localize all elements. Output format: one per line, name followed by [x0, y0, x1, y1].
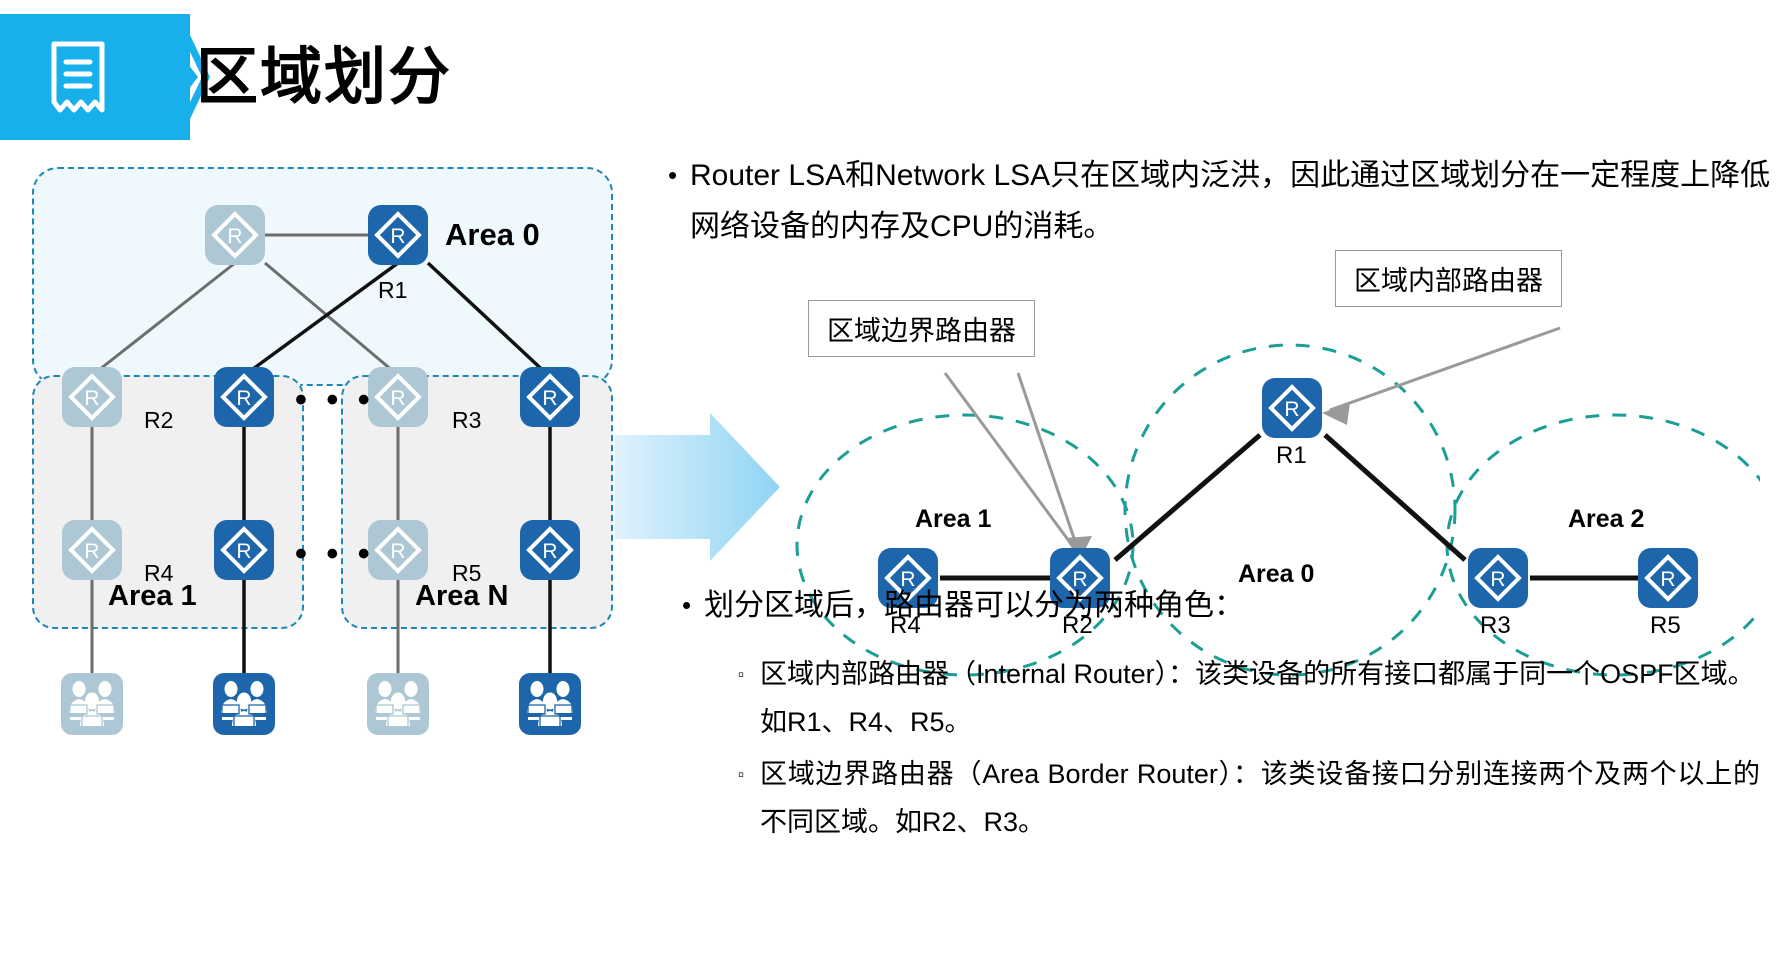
left-topology-diagram: R R Area 0 R1 R R R2 R R R3 • • •	[20, 155, 630, 855]
abr-callout: 区域边界路由器	[808, 300, 1035, 357]
area0-region-box	[32, 167, 613, 386]
right-label-r1: R1	[1276, 442, 1307, 470]
router-icon-r1[interactable]: R	[368, 205, 428, 265]
router-icon-r2[interactable]: R	[214, 367, 274, 427]
router-icon-r2-light[interactable]: R	[62, 367, 122, 427]
svg-text:R: R	[227, 225, 242, 248]
bullet-text: Router LSA和Network LSA只在区域内泛洪，因此通过区域划分在一…	[690, 150, 1780, 252]
users-icon-1[interactable]	[61, 673, 123, 735]
bullet-marker: •	[668, 150, 690, 200]
label-r3: R3	[452, 407, 481, 434]
router-icon-r5-light[interactable]: R	[368, 520, 428, 580]
router-icon-r3[interactable]: R	[520, 367, 580, 427]
sub-bullet-item-2: ▫ 区域边界路由器（Area Border Router）：该类设备接口分别连接…	[738, 750, 1788, 846]
label-r2: R2	[144, 407, 173, 434]
router-icon-r4[interactable]: R	[214, 520, 274, 580]
svg-text:R: R	[84, 387, 99, 410]
users-icon-2[interactable]	[213, 673, 275, 735]
router-icon-r3-light[interactable]: R	[368, 367, 428, 427]
router-icon-r4-light[interactable]: R	[62, 520, 122, 580]
right-router-r1[interactable]: R	[1262, 378, 1322, 438]
svg-text:R: R	[542, 540, 557, 563]
svg-text:R: R	[542, 387, 557, 410]
sub-bullet-marker: ▫	[738, 750, 760, 800]
router-icon-r5[interactable]: R	[520, 520, 580, 580]
internal-router-callout: 区域内部路由器	[1335, 250, 1562, 307]
svg-text:R: R	[390, 540, 405, 563]
bullet-text: 划分区域后，路由器可以分为两种角色：	[704, 580, 1764, 631]
bullet-marker: •	[682, 580, 704, 630]
sub-bullet-item-1: ▫ 区域内部路由器（Internal Router）：该类设备的所有接口都属于同…	[738, 650, 1788, 746]
right-content-pane: • Router LSA和Network LSA只在区域内泛洪，因此通过区域划分…	[660, 150, 1789, 970]
svg-text:R: R	[236, 540, 251, 563]
document-bookmark-icon	[46, 40, 110, 114]
slide-header: 区域划分	[0, 0, 1789, 150]
bullet-item-2: • 划分区域后，路由器可以分为两种角色：	[682, 580, 1782, 631]
svg-text:R: R	[84, 540, 99, 563]
slide-root: 区域划分 R	[0, 0, 1789, 970]
sub-bullet-text: 区域边界路由器（Area Border Router）：该类设备接口分别连接两个…	[760, 750, 1760, 846]
router-icon-top-light[interactable]: R	[205, 205, 265, 265]
label-r1: R1	[378, 277, 407, 304]
svg-text:R: R	[236, 387, 251, 410]
area1-label: Area 1	[108, 580, 197, 613]
ellipsis-bottom: • • •	[295, 547, 375, 561]
users-icon-4[interactable]	[519, 673, 581, 735]
svg-text:R: R	[390, 387, 405, 410]
ellipsis-top: • • •	[295, 393, 375, 407]
sub-bullet-marker: ▫	[738, 650, 760, 700]
right-area2-label: Area 2	[1568, 505, 1644, 534]
right-area1-label: Area 1	[915, 505, 991, 534]
svg-text:R: R	[390, 225, 405, 248]
users-icon-3[interactable]	[367, 673, 429, 735]
arean-label: Area N	[415, 580, 509, 613]
sub-bullet-text: 区域内部路由器（Internal Router）：该类设备的所有接口都属于同一个…	[760, 650, 1760, 746]
svg-text:R: R	[1284, 398, 1299, 421]
area0-label: Area 0	[445, 217, 540, 253]
page-title: 区域划分	[196, 22, 452, 134]
bullet-item-1: • Router LSA和Network LSA只在区域内泛洪，因此通过区域划分…	[668, 150, 1788, 252]
